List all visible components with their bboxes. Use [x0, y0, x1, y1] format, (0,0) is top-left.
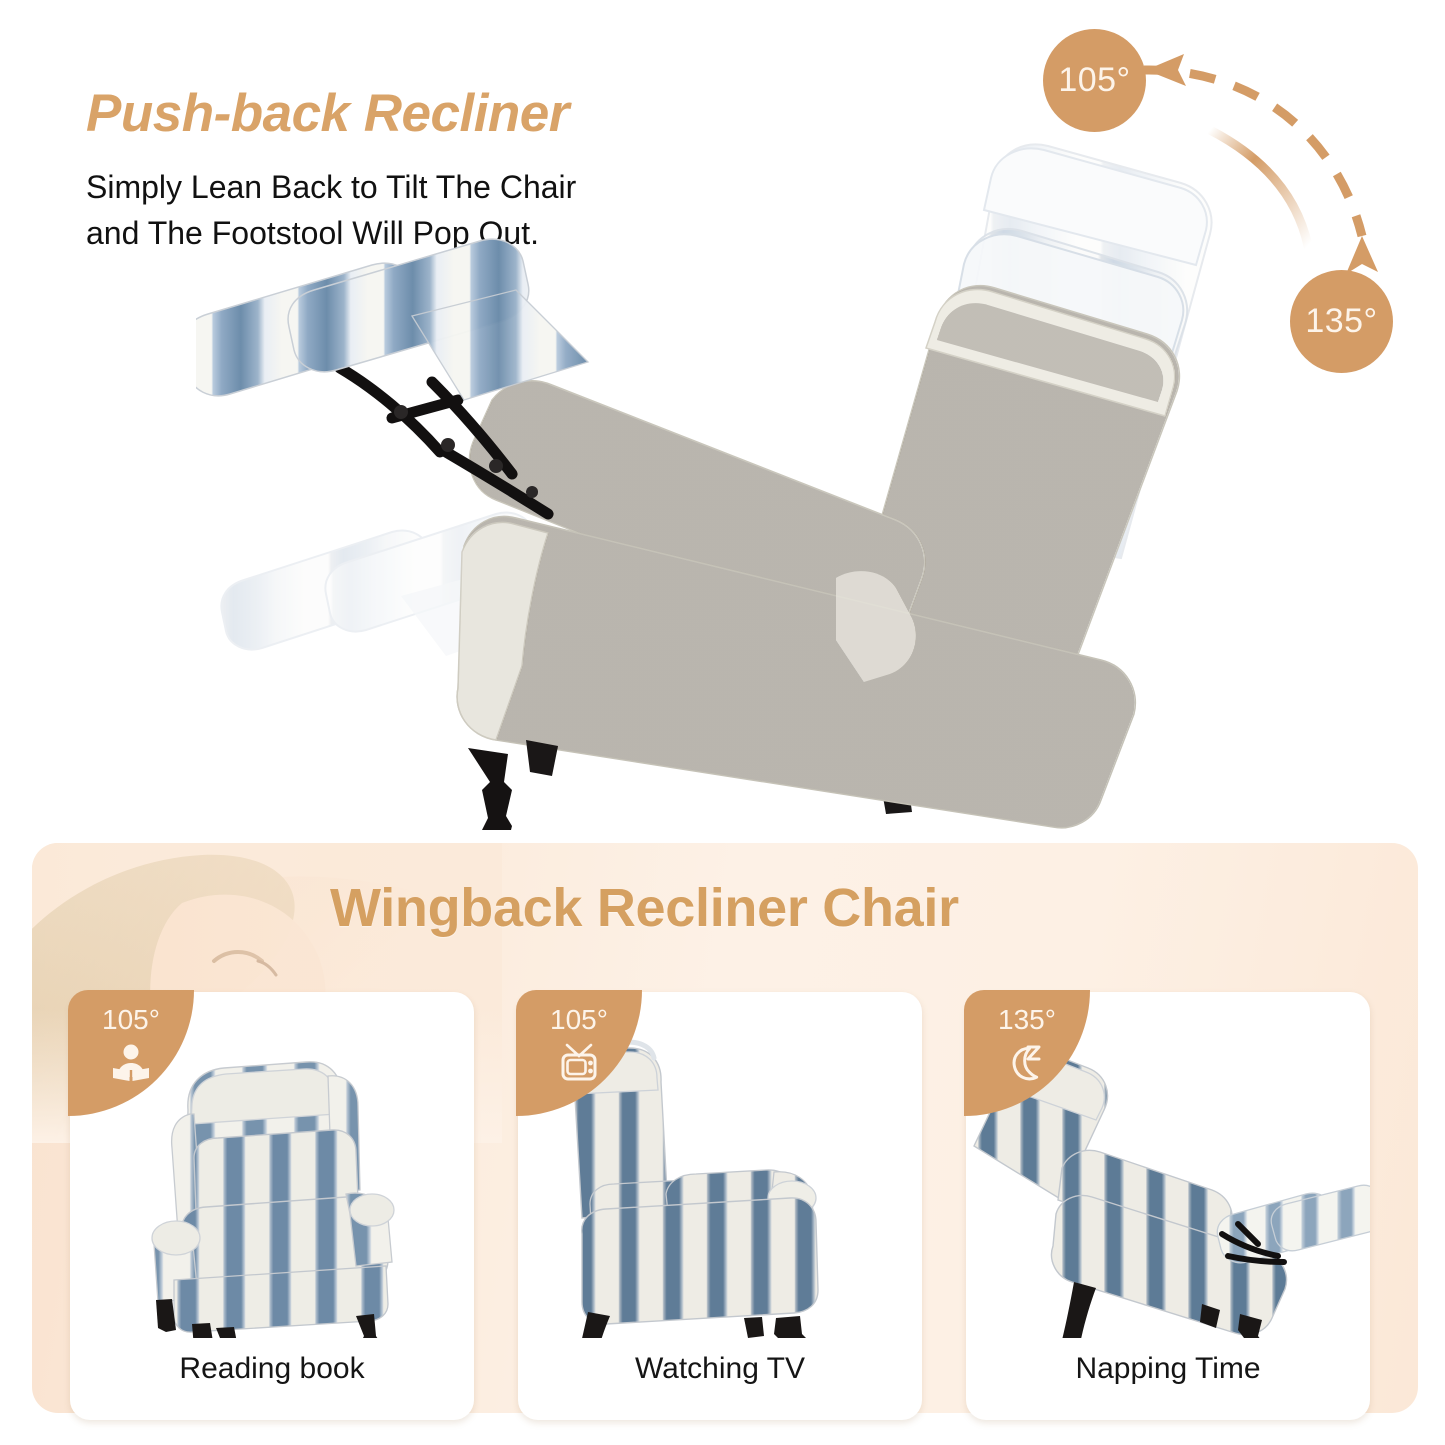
- chair-front-leg: [468, 740, 558, 830]
- angle-badge-135-label: 135°: [1305, 302, 1377, 341]
- top-section: Push-back Recliner Simply Lean Back to T…: [0, 0, 1445, 843]
- scenario-card-reading[interactable]: 105° Reading book: [70, 992, 474, 1420]
- scenario-card-watching-tv[interactable]: 105° Watching TV: [518, 992, 922, 1420]
- card-caption: Reading book: [70, 1352, 474, 1386]
- person-reading-book-icon: [110, 1041, 152, 1083]
- crescent-moon-sleep-icon: [1006, 1041, 1048, 1083]
- product-infographic: Push-back Recliner Simply Lean Back to T…: [0, 0, 1445, 1445]
- card-caption: Napping Time: [966, 1352, 1370, 1386]
- card-caption: Watching TV: [518, 1352, 922, 1386]
- card-angle-label: 105°: [102, 1006, 160, 1034]
- angle-badge-105: 105°: [1043, 29, 1146, 132]
- reclining-chair-side-view-illustration: [196, 100, 1306, 830]
- card-angle-label: 105°: [550, 1006, 608, 1034]
- footrest: [196, 239, 588, 400]
- scenario-card-napping[interactable]: 135° Napping Time: [966, 992, 1370, 1420]
- panel-title: Wingback Recliner Chair: [330, 877, 959, 939]
- retro-tv-icon: [558, 1041, 600, 1083]
- card-angle-label: 135°: [998, 1006, 1056, 1034]
- angle-badge-105-label: 105°: [1058, 61, 1130, 100]
- angle-badge-135: 135°: [1290, 270, 1393, 373]
